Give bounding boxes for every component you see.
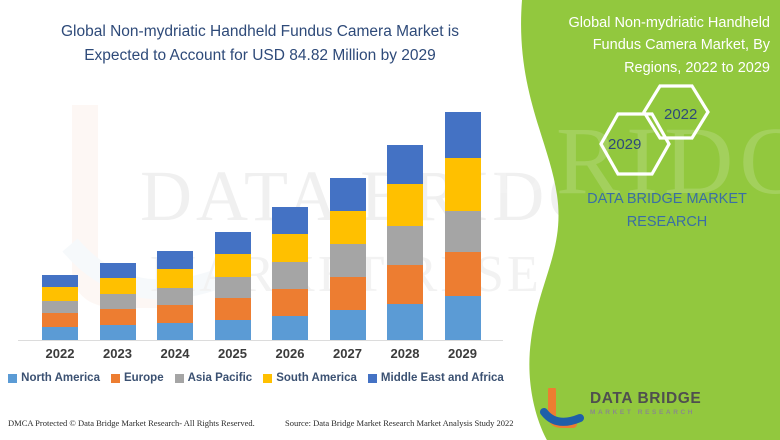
bar-segment-middle-east-and-africa[interactable] (42, 275, 78, 287)
legend-swatch (111, 374, 120, 383)
hexagon-group: 2029 2022 (588, 82, 738, 187)
legend-swatch (263, 374, 272, 383)
bar-segment-europe[interactable] (445, 252, 481, 295)
bar-segment-asia-pacific[interactable] (42, 301, 78, 313)
chart-legend: North AmericaEuropeAsia PacificSouth Ame… (0, 372, 512, 384)
bar-segment-north-america[interactable] (100, 325, 136, 340)
bar-segment-middle-east-and-africa[interactable] (387, 145, 423, 184)
bar-2025[interactable] (215, 232, 251, 340)
x-axis-label-2028: 2028 (375, 346, 435, 361)
x-axis-label-2026: 2026 (260, 346, 320, 361)
bar-segment-south-america[interactable] (445, 158, 481, 211)
chart-infographic: DATA BRIDGE MARKET RESEARCH Global Non-m… (0, 0, 780, 440)
bar-segment-south-america[interactable] (215, 254, 251, 277)
bar-segment-north-america[interactable] (330, 310, 366, 340)
bar-segment-europe[interactable] (42, 313, 78, 326)
hexagon-label-2022: 2022 (664, 106, 697, 123)
bar-segment-middle-east-and-africa[interactable] (330, 178, 366, 210)
legend-label: Europe (124, 372, 164, 384)
bar-2022[interactable] (42, 275, 78, 340)
bar-segment-asia-pacific[interactable] (445, 211, 481, 253)
x-axis-label-2022: 2022 (30, 346, 90, 361)
right-panel-brand: DATA BRIDGE MARKET RESEARCH (556, 188, 778, 234)
bar-segment-europe[interactable] (157, 305, 193, 323)
hexagon-label-2029: 2029 (608, 136, 641, 153)
bar-segment-asia-pacific[interactable] (272, 262, 308, 289)
legend-label: North America (21, 372, 100, 384)
legend-item-europe[interactable]: Europe (111, 372, 164, 384)
x-axis-label-2029: 2029 (433, 346, 493, 361)
bar-segment-europe[interactable] (330, 277, 366, 311)
data-bridge-logo: DATA BRIDGE MARKET RESEARCH (540, 388, 730, 430)
bar-segment-europe[interactable] (215, 298, 251, 320)
bar-segment-asia-pacific[interactable] (157, 288, 193, 306)
bar-2028[interactable] (387, 145, 423, 340)
x-axis-line (18, 340, 503, 341)
legend-swatch (8, 374, 17, 383)
legend-swatch (368, 374, 377, 383)
right-panel-title-line1: Global Non-mydriatic Handheld (569, 15, 771, 31)
bar-segment-north-america[interactable] (157, 323, 193, 341)
x-axis-label-2023: 2023 (88, 346, 148, 361)
bar-2023[interactable] (100, 263, 136, 340)
legend-label: Middle East and Africa (381, 372, 504, 384)
footer-copyright: DMCA Protected © Data Bridge Market Rese… (8, 418, 255, 428)
bar-segment-north-america[interactable] (272, 316, 308, 340)
bar-segment-europe[interactable] (100, 309, 136, 325)
legend-item-middle-east-and-africa[interactable]: Middle East and Africa (368, 372, 504, 384)
hexagon-shapes (588, 82, 738, 187)
bar-segment-middle-east-and-africa[interactable] (272, 207, 308, 234)
bar-2027[interactable] (330, 178, 366, 340)
footer: DMCA Protected © Data Bridge Market Rese… (0, 418, 520, 438)
bar-segment-south-america[interactable] (272, 234, 308, 262)
logo-text: DATA BRIDGE MARKET RESEARCH (590, 390, 701, 416)
bar-segment-north-america[interactable] (387, 304, 423, 340)
bar-segment-middle-east-and-africa[interactable] (100, 263, 136, 278)
bar-segment-middle-east-and-africa[interactable] (157, 251, 193, 269)
bar-segment-south-america[interactable] (42, 287, 78, 300)
x-axis-label-2025: 2025 (203, 346, 263, 361)
bar-2024[interactable] (157, 251, 193, 340)
bar-segment-asia-pacific[interactable] (215, 277, 251, 299)
logo-tagline: MARKET RESEARCH (590, 409, 701, 416)
data-bridge-b-logo (540, 388, 586, 428)
legend-swatch (175, 374, 184, 383)
bar-segment-asia-pacific[interactable] (387, 226, 423, 265)
bar-segment-middle-east-and-africa[interactable] (215, 232, 251, 254)
legend-item-north-america[interactable]: North America (8, 372, 100, 384)
bar-segment-north-america[interactable] (445, 296, 481, 340)
bar-segment-north-america[interactable] (215, 320, 251, 340)
bar-2029[interactable] (445, 112, 481, 340)
x-axis-labels: 20222023202420252026202720282029 (0, 346, 520, 368)
bar-2026[interactable] (272, 207, 308, 340)
right-panel-brand-line1: DATA BRIDGE MARKET (587, 191, 747, 207)
bar-segment-europe[interactable] (272, 289, 308, 316)
footer-source: Source: Data Bridge Market Research Mark… (285, 418, 514, 428)
legend-label: South America (276, 372, 357, 384)
bar-segment-south-america[interactable] (100, 278, 136, 294)
right-panel-title-line2: Fundus Camera Market, By (593, 37, 770, 53)
bar-segment-middle-east-and-africa[interactable] (445, 112, 481, 158)
legend-item-south-america[interactable]: South America (263, 372, 357, 384)
bar-segment-south-america[interactable] (157, 269, 193, 288)
bar-segment-north-america[interactable] (42, 327, 78, 340)
logo-name: DATA BRIDGE (590, 390, 701, 408)
legend-label: Asia Pacific (188, 372, 253, 384)
x-axis-label-2024: 2024 (145, 346, 205, 361)
bar-segment-europe[interactable] (387, 265, 423, 304)
bar-segment-south-america[interactable] (387, 184, 423, 226)
bar-segment-asia-pacific[interactable] (330, 244, 366, 276)
x-axis-label-2027: 2027 (318, 346, 378, 361)
bar-segment-south-america[interactable] (330, 211, 366, 245)
right-panel-brand-line2: RESEARCH (627, 214, 708, 230)
bar-segment-asia-pacific[interactable] (100, 294, 136, 309)
right-panel-title: Global Non-mydriatic Handheld Fundus Cam… (548, 12, 770, 79)
right-panel-title-line3: Regions, 2022 to 2029 (624, 60, 770, 76)
legend-item-asia-pacific[interactable]: Asia Pacific (175, 372, 253, 384)
